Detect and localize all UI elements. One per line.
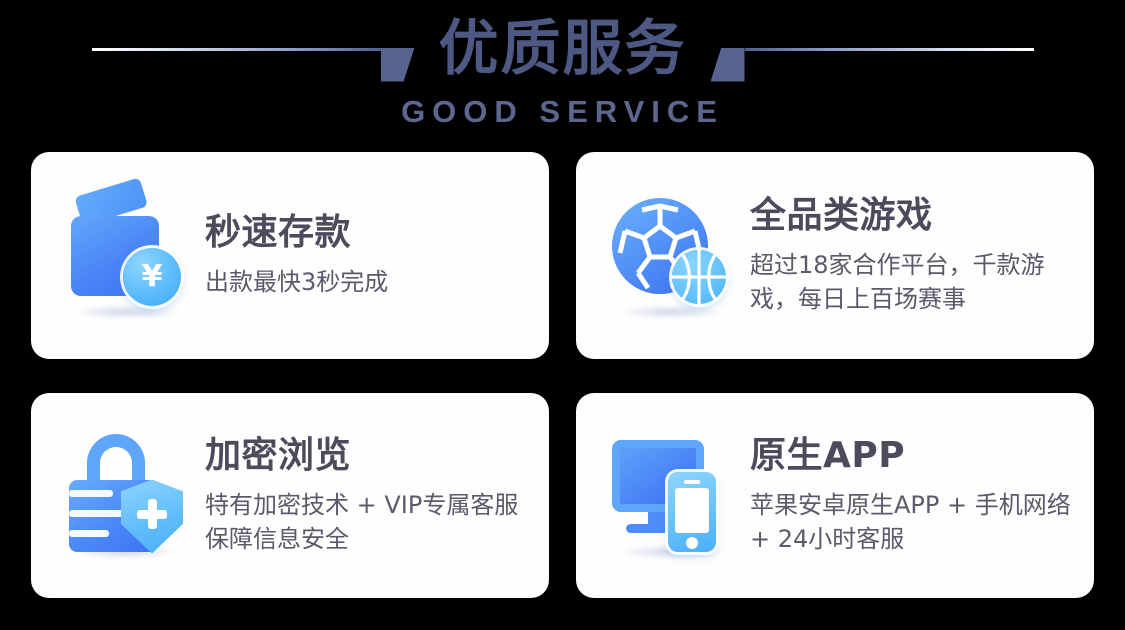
phone-home-button bbox=[686, 537, 698, 549]
rule-line-right bbox=[745, 48, 1034, 51]
card-description: 苹果安卓原生APP + 手机网络 + 24小时客服 bbox=[750, 488, 1080, 556]
header-title-row: 优质服务 bbox=[0, 8, 1125, 90]
feature-card-deposit[interactable]: ¥ 秒速存款 出款最快3秒完成 bbox=[31, 152, 549, 359]
soccer-basketball-icon bbox=[610, 190, 732, 322]
header-rule-left bbox=[61, 27, 421, 72]
lock-shield-icon bbox=[65, 430, 187, 562]
lock-slot-line bbox=[69, 510, 125, 517]
plus-cross-icon bbox=[137, 499, 167, 529]
rule-slash-left bbox=[381, 48, 415, 82]
card-text-block: 秒速存款 出款最快3秒完成 bbox=[205, 212, 549, 299]
feature-card-games[interactable]: 全品类游戏 超过18家合作平台，千款游戏，每日上百场赛事 bbox=[576, 152, 1094, 359]
card-description: 超过18家合作平台，千款游戏，每日上百场赛事 bbox=[750, 248, 1080, 316]
phone-screen bbox=[675, 488, 709, 533]
banner-header: 优质服务 GOOD SERVICE bbox=[0, 0, 1125, 145]
card-text-block: 全品类游戏 超过18家合作平台，千款游戏，每日上百场赛事 bbox=[750, 195, 1094, 316]
feature-card-grid: ¥ 秒速存款 出款最快3秒完成 bbox=[31, 152, 1094, 598]
card-text-block: 加密浏览 特有加密技术 + VIP专属客服保障信息安全 bbox=[205, 435, 549, 556]
page-title: 优质服务 bbox=[421, 19, 705, 79]
icon-shadow bbox=[73, 304, 177, 320]
basketball-icon bbox=[672, 250, 726, 304]
page-subtitle: GOOD SERVICE bbox=[0, 96, 1125, 127]
phone-speaker bbox=[684, 480, 700, 484]
lock-slot-line bbox=[69, 490, 113, 497]
card-description: 出款最快3秒完成 bbox=[205, 265, 537, 299]
yen-symbol: ¥ bbox=[142, 262, 163, 292]
lock-slot-line bbox=[69, 530, 109, 537]
smartphone-icon bbox=[668, 472, 716, 552]
card-text-block: 原生APP 苹果安卓原生APP + 手机网络 + 24小时客服 bbox=[750, 435, 1094, 556]
icon-shadow bbox=[618, 304, 722, 320]
wallet-yen-icon: ¥ bbox=[65, 190, 187, 322]
monitor-phone-icon bbox=[610, 430, 732, 562]
feature-card-native-app[interactable]: 原生APP 苹果安卓原生APP + 手机网络 + 24小时客服 bbox=[576, 393, 1094, 598]
card-description: 特有加密技术 + VIP专属客服保障信息安全 bbox=[205, 488, 535, 556]
feature-card-encryption[interactable]: 加密浏览 特有加密技术 + VIP专属客服保障信息安全 bbox=[31, 393, 549, 598]
rule-slash-right bbox=[711, 48, 745, 82]
card-title: 全品类游戏 bbox=[750, 195, 1082, 237]
card-title: 加密浏览 bbox=[205, 435, 537, 477]
service-feature-banner: 优质服务 GOOD SERVICE ¥ 秒速存款 出款最快3秒完成 bbox=[0, 0, 1125, 630]
yen-coin-icon: ¥ bbox=[123, 248, 181, 306]
card-title: 原生APP bbox=[750, 435, 1082, 477]
rule-line-left bbox=[92, 48, 381, 51]
card-title: 秒速存款 bbox=[205, 212, 537, 254]
header-rule-right bbox=[705, 27, 1065, 72]
